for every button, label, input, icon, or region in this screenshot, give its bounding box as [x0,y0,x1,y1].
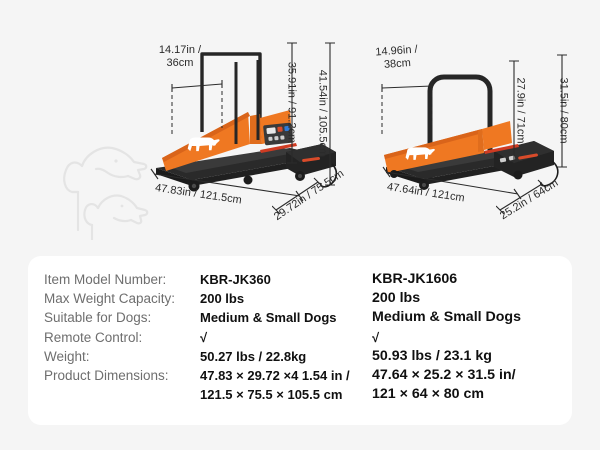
spec-label: Product Dimensions: [44,366,200,385]
spec-value-product-2: KBR-JK1606 [372,270,521,289]
spec-label: Item Model Number: [44,270,200,289]
specification-card: Item Model Number: KBR-JK360 KBR-JK1606 … [28,256,572,425]
spec-value-product-1: 200 lbs [200,289,372,308]
spec-value-product-2: 200 lbs [372,289,521,308]
spec-value-line-1: 47.64 × 25.2 × 31.5 in/ [372,366,521,385]
dim-text-line1: 14.96in / [375,44,418,59]
dim-text-line2: 36cm [167,57,194,69]
spec-value-product-1: KBR-JK360 [200,270,372,289]
table-row: Product Dimensions: 47.83 × 29.72 ×4 1.5… [44,366,521,404]
spec-value-line-1: 47.83 × 29.72 ×4 1.54 in / [200,366,372,385]
dimension-label-right-height-overall: 31.5in / 80cm [557,51,570,169]
spec-value-product-1: √ [200,328,372,347]
dog-heads-outline-icon [52,120,152,240]
dimension-label-right-height-panel: 27.9in / 71cm [514,57,527,163]
spec-label: Max Weight Capacity: [44,289,200,308]
dimension-label-left-height-overall: 41.54in / 105.5cm [316,39,329,187]
dimension-label-left-height-panel: 35.91in / 91.2cm [285,39,298,165]
table-row: Max Weight Capacity: 200 lbs 200 lbs [44,289,521,308]
spec-value-product-2: 50.93 lbs / 23.1 kg [372,347,521,366]
spec-value-line-2: 121 × 64 × 80 cm [372,385,521,404]
dimension-label-left-width-top: 14.17in / 36cm [143,44,217,70]
dimension-line-right-width-top [378,80,440,138]
dimension-line-left-width-top [168,78,230,140]
spec-label: Suitable for Dogs: [44,308,200,327]
table-row: Weight: 50.27 lbs / 22.8kg 50.93 lbs / 2… [44,347,521,366]
spec-label: Remote Control: [44,328,200,347]
spec-value-product-1: 47.83 × 29.72 ×4 1.54 in / 121.5 × 75.5 … [200,366,372,404]
dim-text-line2: 38cm [384,57,412,71]
dimension-label-right-width-top: 14.96in / 38cm [357,42,437,73]
table-row: Remote Control: √ √ [44,328,521,347]
spec-value-product-2: Medium & Small Dogs [372,308,521,327]
dim-text-line1: 14.17in / [159,44,201,56]
product-comparison-graphic: 14.17in / 36cm 35.91in / 91.2cm 41.54in … [0,0,600,450]
specification-table: Item Model Number: KBR-JK360 KBR-JK1606 … [44,270,521,404]
spec-value-product-1: Medium & Small Dogs [200,308,372,327]
spec-value-product-2: 47.64 × 25.2 × 31.5 in/ 121 × 64 × 80 cm [372,366,521,404]
spec-value-line-2: 121.5 × 75.5 × 105.5 cm [200,385,372,404]
spec-value-product-1: 50.27 lbs / 22.8kg [200,347,372,366]
spec-label: Weight: [44,347,200,366]
table-row: Item Model Number: KBR-JK360 KBR-JK1606 [44,270,521,289]
spec-value-product-2: √ [372,328,521,347]
table-row: Suitable for Dogs: Medium & Small Dogs M… [44,308,521,327]
